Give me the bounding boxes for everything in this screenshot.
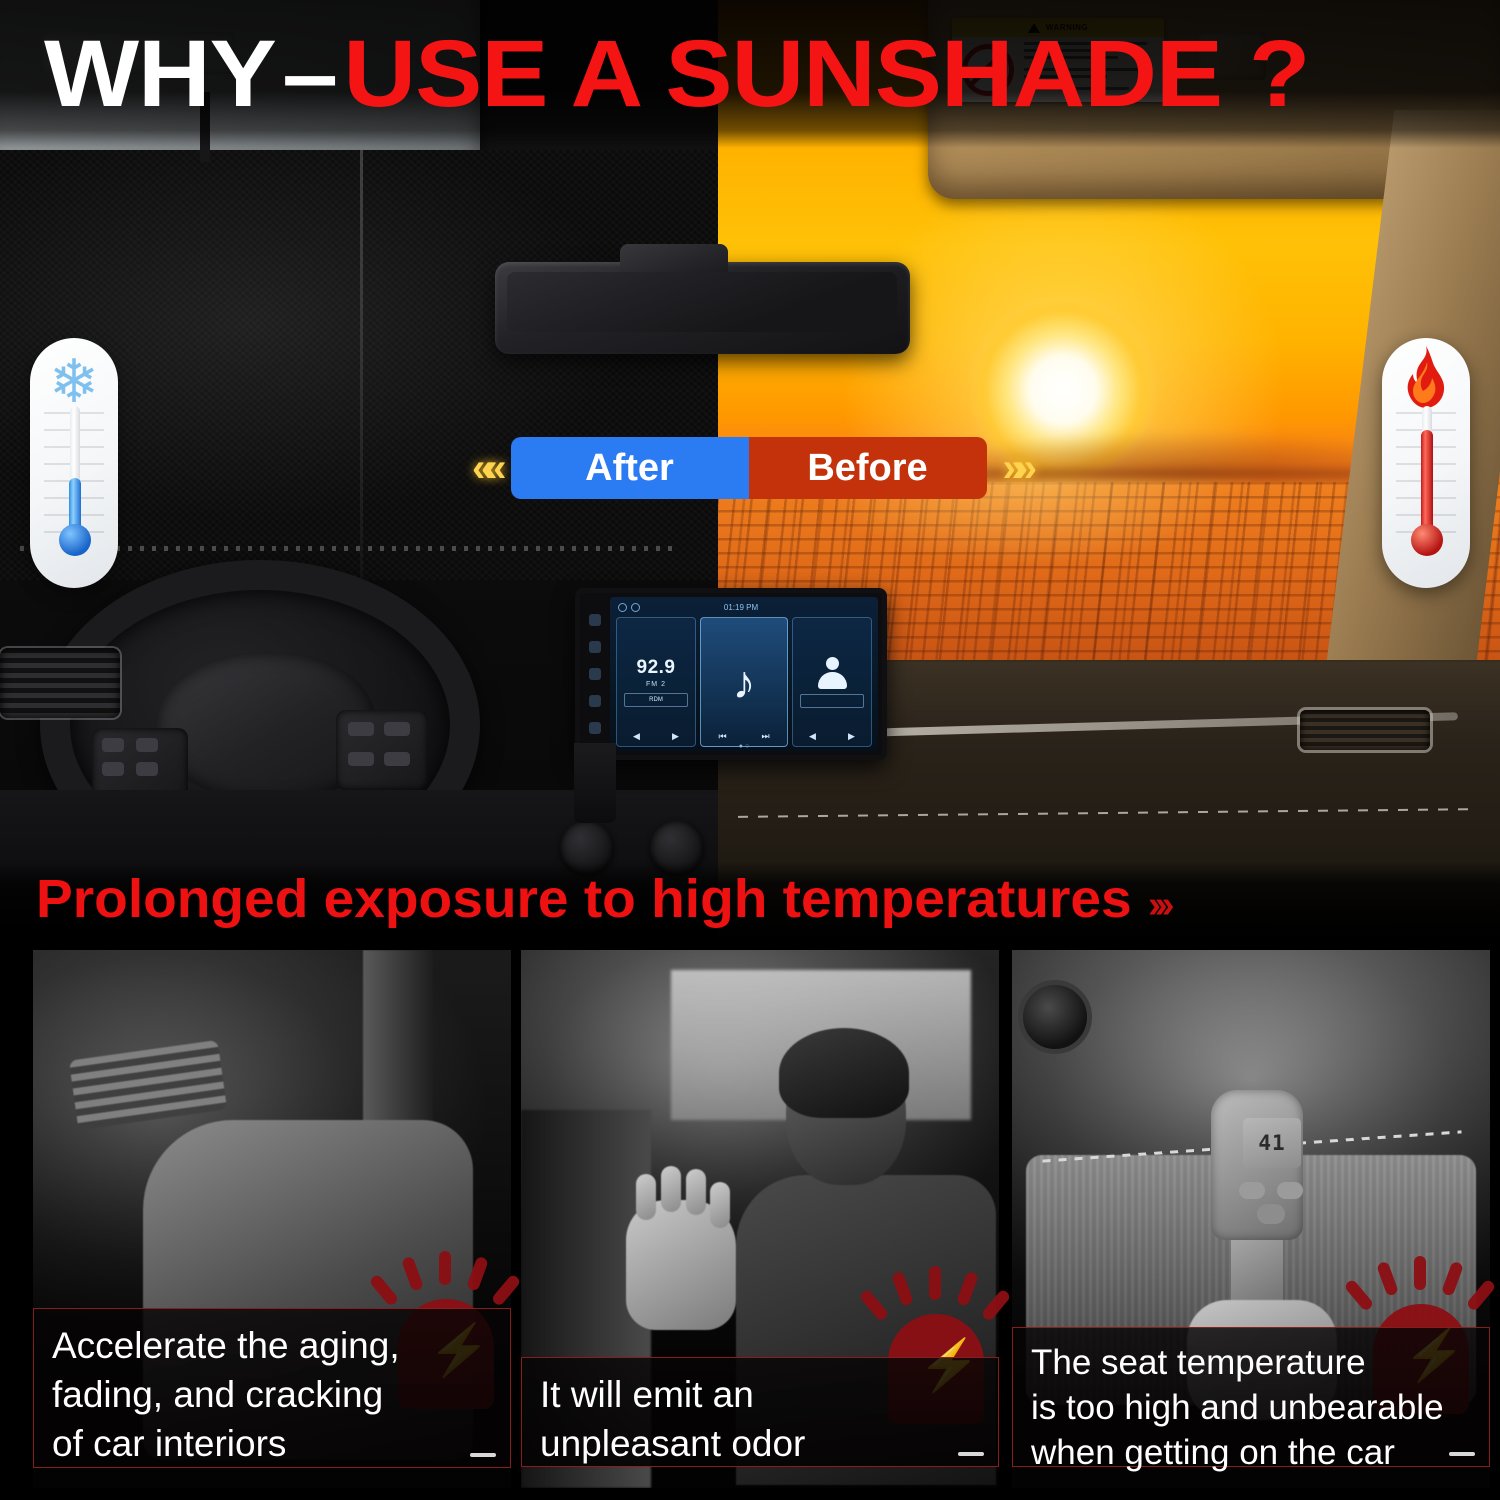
subtitle-text: Prolonged exposure to high temperatures	[36, 869, 1132, 929]
sunshade-edge-dots	[20, 546, 680, 551]
media-tile[interactable]: ♪ ⏮ ⏭	[700, 617, 788, 747]
phone-status-pill[interactable]	[800, 694, 864, 708]
subtitle-arrows-icon: ›››	[1148, 884, 1168, 926]
title-dash: –	[282, 21, 337, 127]
radio-band: FM 2	[646, 681, 666, 688]
sunshade-seam	[360, 150, 363, 580]
phone-prev-icon[interactable]: ◀	[809, 731, 816, 742]
thermometer-button-right[interactable]	[1277, 1182, 1303, 1199]
radio-tile[interactable]: 92.9 FM 2 RDM ◀ ▶	[616, 617, 696, 747]
caption-line: when getting on the car	[1031, 1430, 1471, 1475]
screen-status-icons	[618, 603, 640, 612]
caption-seat-temperature: The seat temperature is too high and unb…	[1012, 1327, 1490, 1467]
steering-controls-right	[336, 710, 428, 790]
contact-person-icon	[818, 657, 846, 689]
hot-thermometer	[1382, 338, 1470, 588]
infrared-thermometer: 41	[1197, 1090, 1317, 1340]
infotainment-screen[interactable]: 01:19 PM 92.9 FM 2 RDM ◀ ▶ ♪	[575, 588, 887, 760]
before-badge[interactable]: Before	[749, 437, 987, 499]
air-vent-right	[1300, 710, 1430, 750]
thermometer-reading: 41	[1258, 1131, 1285, 1155]
media-forward-icon[interactable]: ⏭	[761, 731, 769, 742]
caption-dash-mark	[470, 1453, 496, 1457]
radio-next-icon[interactable]: ▶	[672, 731, 679, 742]
subtitle-text-row: Prolonged exposure to high temperatures›…	[36, 868, 1168, 936]
screen-page-dots[interactable]: ● ○	[610, 743, 878, 750]
thermometer-button-center[interactable]	[1257, 1204, 1285, 1224]
radio-preset[interactable]: RDM	[624, 693, 688, 707]
caption-line: Accelerate the aging,	[52, 1321, 492, 1370]
dashboard-stitching	[738, 808, 1478, 818]
caption-line: It will emit an	[540, 1370, 980, 1419]
phone-tile[interactable]: ◀ ▶	[792, 617, 872, 747]
phone-nav[interactable]: ◀ ▶	[793, 731, 871, 742]
before-after-toggle[interactable]: «« After Before »»	[472, 437, 1027, 499]
screen-tiles: 92.9 FM 2 RDM ◀ ▶ ♪ ⏮ ⏭	[610, 617, 878, 751]
title-red-phrase: USE A SUNSHADE ?	[343, 21, 1309, 127]
phone-next-icon[interactable]: ▶	[848, 731, 855, 742]
caption-line: The seat temperature	[1031, 1340, 1471, 1385]
media-nav[interactable]: ⏮ ⏭	[701, 731, 787, 742]
right-chevrons-icon: »»	[987, 446, 1028, 491]
caption-interior-aging: Accelerate the aging, fading, and cracki…	[33, 1308, 511, 1468]
screen-status-bar: 01:19 PM	[610, 597, 878, 617]
title-white-word: WHY	[44, 21, 276, 127]
thermometer-bulb-cold	[59, 524, 91, 556]
page-title: WHY–USE A SUNSHADE ?	[44, 24, 1309, 124]
caption-line: unpleasant odor	[540, 1419, 980, 1468]
cold-thermometer: ❄	[30, 338, 118, 588]
radio-prev-icon[interactable]: ◀	[633, 731, 640, 742]
thermometer-lcd: 41	[1243, 1118, 1301, 1168]
thermometer-body: 41	[1211, 1090, 1303, 1240]
caption-line: of car interiors	[52, 1419, 492, 1468]
infographic-page: WARNING	[0, 0, 1500, 1500]
thermometer-bulb-hot	[1411, 524, 1443, 556]
radio-nav[interactable]: ◀ ▶	[617, 731, 695, 742]
screen-mount-bracket	[574, 743, 616, 823]
driver-hand-shape	[626, 1200, 736, 1330]
air-vent-left	[0, 648, 120, 718]
thermometer-button-left[interactable]	[1239, 1182, 1265, 1199]
caption-unpleasant-odor: It will emit an unpleasant odor	[521, 1357, 999, 1467]
subtitle-strip: Prolonged exposure to high temperatures›…	[0, 862, 1500, 946]
wristwatch-shape	[1018, 980, 1092, 1054]
snowflake-icon: ❄	[42, 350, 106, 414]
screen-clock: 01:19 PM	[724, 603, 758, 612]
caption-dash-mark	[1449, 1452, 1475, 1456]
after-badge[interactable]: After	[511, 437, 749, 499]
flame-icon	[1402, 346, 1450, 408]
music-note-icon: ♪	[733, 659, 756, 705]
rearview-mirror	[495, 262, 910, 354]
left-chevrons-icon: ««	[472, 446, 511, 491]
screen-side-buttons[interactable]	[580, 593, 610, 755]
driver-hair-shape	[779, 1028, 909, 1118]
screen-display: 01:19 PM 92.9 FM 2 RDM ◀ ▶ ♪	[610, 597, 878, 751]
mirror-glass	[507, 272, 897, 332]
radio-frequency: 92.9	[637, 657, 676, 679]
caption-line: fading, and cracking	[52, 1370, 492, 1419]
caption-line: is too high and unbearable	[1031, 1385, 1471, 1430]
header-bar: WHY–USE A SUNSHADE ?	[0, 0, 1500, 148]
caption-dash-mark	[958, 1452, 984, 1456]
media-rewind-icon[interactable]: ⏮	[718, 731, 726, 742]
